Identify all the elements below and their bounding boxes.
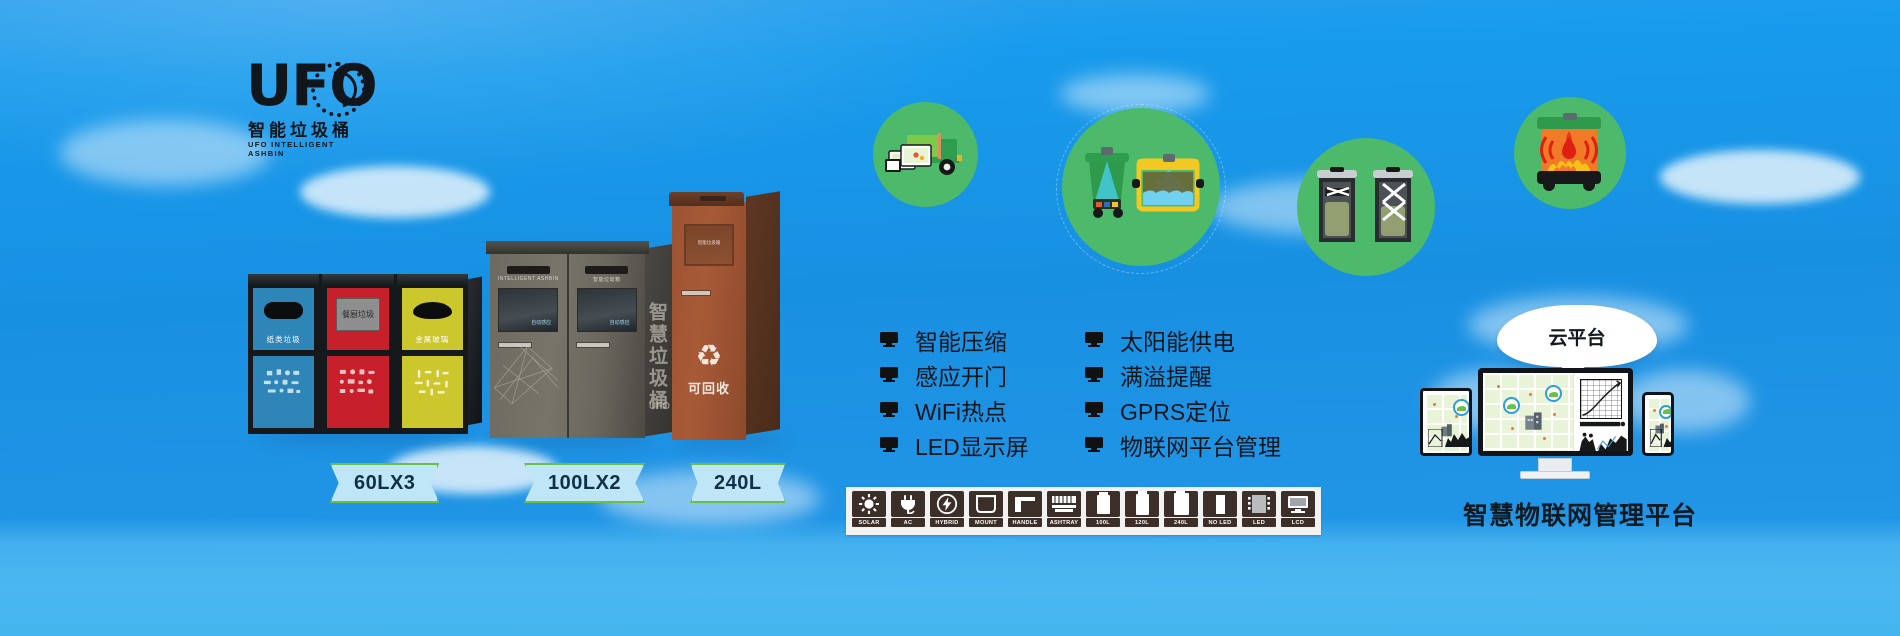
option-ashtray[interactable]: ASHTRAY bbox=[1046, 491, 1082, 531]
no-led-icon bbox=[1203, 491, 1237, 517]
map-pin bbox=[1553, 413, 1556, 416]
lightning-bolt-icon bbox=[930, 491, 964, 517]
bin-hood bbox=[322, 274, 393, 286]
circle-fire-alarm bbox=[1514, 97, 1626, 209]
feature-list-left: 智能压缩 感应开门 WiFi热点 LED显示屏 bbox=[880, 322, 1029, 462]
feature-label: 感应开门 bbox=[915, 358, 1007, 392]
bin-opening-slot bbox=[264, 302, 303, 319]
option-handle[interactable]: HANDLE bbox=[1007, 491, 1043, 531]
monitor-icon bbox=[1085, 367, 1103, 382]
bin-category-screen: 餐厨垃圾 bbox=[336, 298, 380, 331]
capacity-ribbon-240l: 240L bbox=[690, 463, 786, 503]
feature-item: 太阳能供电 bbox=[1085, 322, 1281, 357]
feature-item: GPRS定位 bbox=[1085, 392, 1281, 427]
sun-icon bbox=[852, 491, 886, 517]
cloud-decor bbox=[1660, 150, 1860, 204]
bin-upper-panel: 纸类垃圾 bbox=[253, 288, 314, 350]
bin-display-window: 智能垃圾箱 bbox=[684, 224, 734, 266]
map-pin bbox=[1543, 437, 1546, 440]
monitor-icon bbox=[880, 367, 898, 382]
chart-panel bbox=[1573, 373, 1628, 451]
circle-fill-level-sensor bbox=[1062, 108, 1220, 266]
bin-side-panel bbox=[466, 276, 482, 425]
bin-lower-panel bbox=[253, 356, 314, 428]
status-bubble bbox=[1503, 397, 1520, 414]
option-label: NO LED bbox=[1203, 518, 1237, 527]
option-label: 240L bbox=[1164, 518, 1198, 527]
status-bubble bbox=[1659, 405, 1673, 419]
bin-name-plate-text: 智能垃圾箱 bbox=[575, 276, 639, 283]
map-view bbox=[1483, 373, 1573, 451]
platform-footer-title: 智慧物联网管理平台 bbox=[1450, 496, 1710, 532]
smartphone-device bbox=[1642, 392, 1674, 456]
area-chart bbox=[1579, 431, 1627, 453]
bin-top-cap bbox=[565, 241, 650, 254]
monitor-icon bbox=[880, 402, 898, 417]
product-double-bin: 智慧垃圾桶 UFO INTELLIGENT ASHBIN 自动感应 bbox=[490, 250, 645, 438]
bin-name-plate bbox=[585, 266, 628, 274]
feature-list-right: 太阳能供电 满溢提醒 GPRS定位 物联网平台管理 bbox=[1085, 322, 1281, 462]
bin-side-text: 智慧垃圾桶 bbox=[643, 302, 670, 412]
bin-lower-panel bbox=[327, 356, 388, 428]
wall-mount-icon bbox=[969, 491, 1003, 517]
bin-100l-icon bbox=[1086, 491, 1120, 517]
waste-pictogram bbox=[333, 366, 382, 400]
option-icon-strip: SOLAR AC HYBRID MOUNT bbox=[846, 487, 1321, 535]
feature-item: 满溢提醒 bbox=[1085, 357, 1281, 392]
option-label: LCD bbox=[1281, 518, 1315, 527]
sparkline-chart bbox=[1428, 429, 1472, 447]
bin-brand-mark: UFO bbox=[649, 401, 670, 412]
bin-card-reader bbox=[681, 290, 711, 296]
desktop-monitor-device bbox=[1478, 368, 1633, 456]
bin-upper-panel: 金属玻璃 bbox=[402, 288, 463, 350]
bin-body: INTELLIGENT ASHBIN 自动感应 智能垃圾箱 bbox=[490, 250, 645, 438]
monitor-stand bbox=[1538, 458, 1572, 472]
option-label: 120L bbox=[1125, 518, 1159, 527]
option-solar[interactable]: SOLAR bbox=[851, 491, 887, 531]
option-label: MOUNT bbox=[969, 518, 1003, 527]
option-label: AC bbox=[891, 518, 925, 527]
feature-label: 物联网平台管理 bbox=[1120, 428, 1281, 462]
monitor-icon bbox=[880, 437, 898, 452]
recycle-label: 可回收 bbox=[672, 378, 746, 397]
cloud-decor bbox=[60, 120, 270, 186]
monitor-icon bbox=[880, 332, 898, 347]
option-hybrid[interactable]: HYBRID bbox=[929, 491, 965, 531]
option-240l[interactable]: 240L bbox=[1163, 491, 1199, 531]
status-bubble bbox=[1453, 399, 1470, 416]
option-label: HYBRID bbox=[930, 518, 964, 527]
bar-indicator bbox=[1580, 421, 1626, 428]
banner-root: UFO 智能垃圾桶 UFO INTELLIGENT ASHBIN 纸类垃圾 bbox=[0, 0, 1900, 636]
sparkline-chart bbox=[1650, 429, 1674, 447]
bin-display-window: 自动感应 bbox=[577, 288, 637, 332]
ashtray-icon bbox=[1047, 491, 1081, 517]
compaction-illustration bbox=[1311, 162, 1421, 252]
bin-display-window: 自动感应 bbox=[498, 288, 558, 332]
bin-opening-slot bbox=[413, 302, 452, 319]
feature-item: LED显示屏 bbox=[880, 427, 1029, 462]
bin-display-caption: 智能垃圾箱 bbox=[686, 239, 732, 246]
feature-item: 感应开门 bbox=[880, 357, 1029, 392]
map-pin bbox=[1653, 409, 1656, 412]
monitor-icon bbox=[1085, 437, 1103, 452]
bin-category-label: 纸类垃圾 bbox=[253, 334, 314, 345]
bin-card-reader bbox=[576, 342, 610, 348]
tablet-device bbox=[1420, 388, 1472, 456]
fill-level-sensor-illustration bbox=[1079, 147, 1204, 227]
monitor-base bbox=[1520, 471, 1590, 479]
polygon-graphic bbox=[487, 336, 568, 410]
capacity-ribbon-100lx2: 100LX2 bbox=[524, 463, 645, 503]
cloud-decor bbox=[300, 166, 490, 218]
bin-compartment: 智能垃圾箱 自动感应 bbox=[569, 250, 646, 438]
power-plug-icon bbox=[891, 491, 925, 517]
feature-label: GPRS定位 bbox=[1120, 393, 1231, 427]
bin-upper-panel: 餐厨垃圾 bbox=[327, 288, 388, 350]
product-single-bin: 智能垃圾箱 ♻ 可回收 bbox=[672, 202, 780, 440]
cloud-platform-label: 云平台 bbox=[1497, 323, 1657, 350]
feature-label: WiFi热点 bbox=[915, 393, 1007, 427]
feature-label: 满溢提醒 bbox=[1120, 358, 1212, 392]
bin-front-face: 智能垃圾箱 bbox=[672, 202, 746, 440]
logo-english-name: UFO INTELLIGENT ASHBIN bbox=[248, 140, 362, 158]
feature-item: 智能压缩 bbox=[880, 322, 1029, 357]
status-bubble bbox=[1545, 385, 1562, 402]
option-lcd[interactable]: LCD bbox=[1280, 491, 1316, 531]
feature-label: LED显示屏 bbox=[915, 428, 1029, 462]
circle-fleet-monitoring bbox=[873, 102, 978, 207]
growth-curve-chart bbox=[1580, 379, 1622, 419]
option-label: HANDLE bbox=[1008, 518, 1042, 527]
bin-compartment: 餐厨垃圾 bbox=[322, 274, 396, 434]
fire-alarm-illustration bbox=[1527, 113, 1613, 193]
waste-pictogram bbox=[259, 366, 308, 400]
product-triple-bin: 纸类垃圾 bbox=[248, 274, 468, 434]
fleet-monitoring-illustration bbox=[885, 125, 967, 185]
circle-compaction bbox=[1297, 138, 1435, 276]
map-pin bbox=[1497, 385, 1500, 388]
option-ac[interactable]: AC bbox=[890, 491, 926, 531]
monitor-icon bbox=[1085, 332, 1103, 347]
feature-label: 太阳能供电 bbox=[1120, 323, 1235, 357]
feature-item: WiFi热点 bbox=[880, 392, 1029, 427]
option-label: 100L bbox=[1086, 518, 1120, 527]
option-120l[interactable]: 120L bbox=[1124, 491, 1160, 531]
bin-display-hint: 自动感应 bbox=[531, 319, 551, 326]
lcd-panel-icon bbox=[1281, 491, 1315, 517]
bin-side-panel bbox=[746, 191, 780, 434]
recycle-icon: ♻ bbox=[672, 342, 746, 372]
option-label: LED bbox=[1242, 518, 1276, 527]
option-no-led[interactable]: NO LED bbox=[1202, 491, 1238, 531]
option-100l[interactable]: 100L bbox=[1085, 491, 1121, 531]
bin-top-cap bbox=[486, 241, 571, 254]
led-panel-icon bbox=[1242, 491, 1276, 517]
bin-compartment: 纸类垃圾 bbox=[248, 274, 322, 434]
option-label: SOLAR bbox=[852, 518, 886, 527]
bin-compartment: 金属玻璃 bbox=[397, 274, 468, 434]
feature-item: 物联网平台管理 bbox=[1085, 427, 1281, 462]
bin-240l-icon bbox=[1164, 491, 1198, 517]
waste-pictogram bbox=[408, 366, 457, 400]
brand-logo: UFO 智能垃圾桶 UFO INTELLIGENT ASHBIN bbox=[246, 60, 362, 156]
building-marker bbox=[1521, 409, 1547, 431]
map-pin bbox=[1529, 393, 1532, 396]
bin-name-plate-text: INTELLIGENT ASHBIN bbox=[496, 276, 560, 282]
bin-top-vent bbox=[700, 196, 726, 201]
logo-chinese-name: 智能垃圾桶 bbox=[248, 116, 353, 141]
bottom-light-band bbox=[0, 518, 1900, 636]
bin-name-plate bbox=[507, 266, 550, 274]
map-view bbox=[1647, 397, 1669, 451]
bin-lower-panel bbox=[402, 356, 463, 428]
option-mount[interactable]: MOUNT bbox=[968, 491, 1004, 531]
map-pin bbox=[1433, 403, 1436, 406]
feature-label: 智能压缩 bbox=[915, 323, 1007, 357]
bin-body: 纸类垃圾 bbox=[248, 274, 468, 434]
monitor-icon bbox=[1085, 402, 1103, 417]
map-pin bbox=[1511, 427, 1514, 430]
iot-dashboard-illustration bbox=[1418, 362, 1718, 490]
handle-icon bbox=[1008, 491, 1042, 517]
option-label: ASHTRAY bbox=[1047, 518, 1081, 527]
bin-display-hint: 自动感应 bbox=[610, 319, 630, 326]
bin-hood bbox=[248, 274, 319, 286]
option-led[interactable]: LED bbox=[1241, 491, 1277, 531]
bin-category-label: 金属玻璃 bbox=[402, 334, 463, 345]
map-view bbox=[1425, 393, 1467, 451]
bin-120l-icon bbox=[1125, 491, 1159, 517]
bin-compartment: INTELLIGENT ASHBIN 自动感应 bbox=[490, 250, 569, 438]
bin-hood bbox=[397, 274, 468, 286]
capacity-ribbon-60lx3: 60LX3 bbox=[330, 463, 439, 503]
